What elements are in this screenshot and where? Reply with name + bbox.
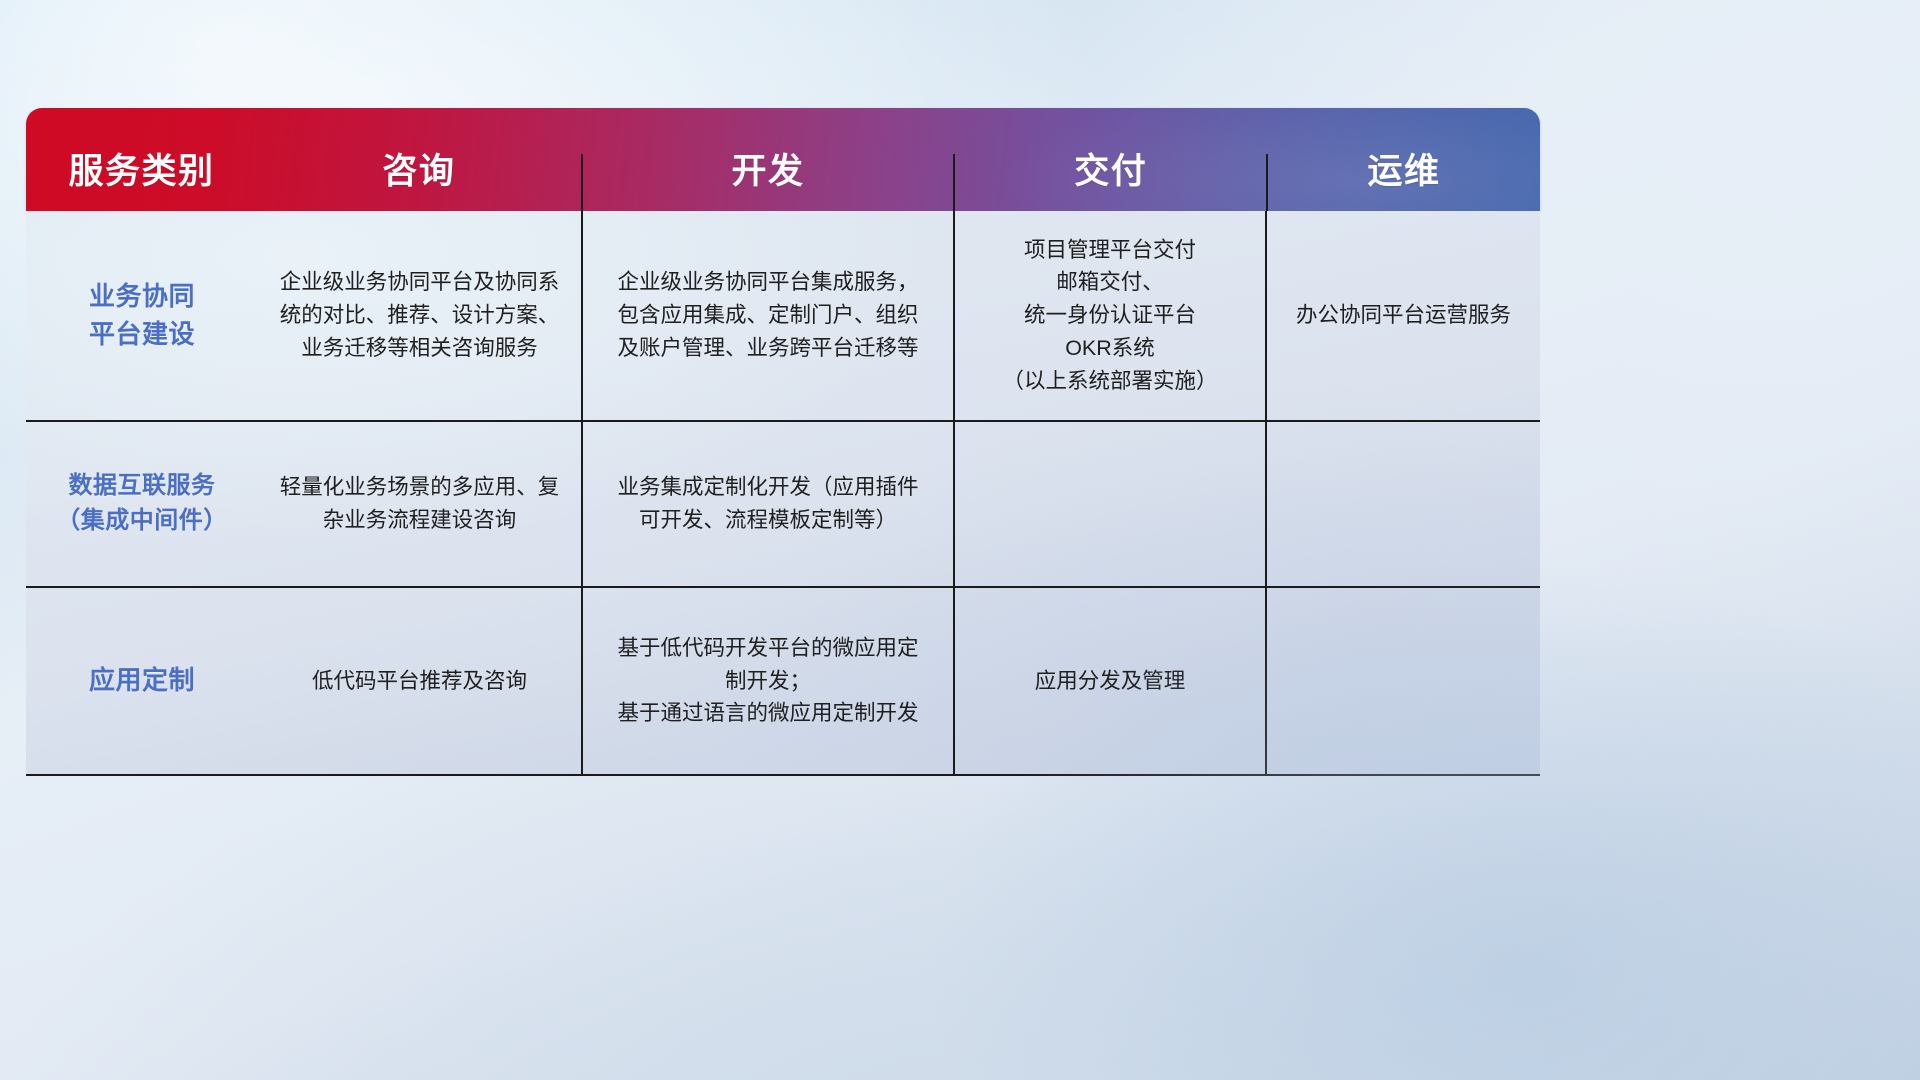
cell-r2-delivery: [955, 422, 1267, 586]
service-category-table: 服务类别 咨询 开发 交付 运维 业务协同 平台建设 企业级业务协同平台及协同系…: [26, 108, 1540, 776]
cell-r1-operations: 办公协同平台运营服务: [1267, 211, 1540, 420]
row-label-data-integration: 数据互联服务 （集成中间件）: [26, 422, 258, 586]
header-cell-consulting: 咨询: [257, 154, 583, 211]
row-label-business-collaboration: 业务协同 平台建设: [26, 211, 258, 420]
header-cell-operations: 运维: [1268, 154, 1540, 211]
cell-r1-development: 企业级业务协同平台集成服务， 包含应用集成、定制门户、组织 及账户管理、业务跨平…: [583, 211, 955, 420]
table-body: 业务协同 平台建设 企业级业务协同平台及协同系 统的对比、推荐、设计方案、 业务…: [26, 211, 1540, 776]
cell-r3-development: 基于低代码开发平台的微应用定 制开发； 基于通过语言的微应用定制开发: [583, 588, 955, 774]
cell-r2-development: 业务集成定制化开发（应用插件 可开发、流程模板定制等）: [583, 422, 955, 586]
cell-r3-consulting: 低代码平台推荐及咨询: [258, 588, 583, 774]
header-cell-development: 开发: [583, 154, 956, 211]
cell-r2-operations: [1267, 422, 1540, 586]
row-label-app-customization: 应用定制: [26, 588, 258, 774]
page-root: 服务类别 咨询 开发 交付 运维 业务协同 平台建设 企业级业务协同平台及协同系…: [0, 0, 1920, 1080]
table-row: 数据互联服务 （集成中间件） 轻量化业务场景的多应用、复 杂业务流程建设咨询 业…: [26, 420, 1540, 586]
table-row: 应用定制 低代码平台推荐及咨询 基于低代码开发平台的微应用定 制开发； 基于通过…: [26, 586, 1540, 774]
cell-r3-operations: [1267, 588, 1540, 774]
cell-r1-consulting: 企业级业务协同平台及协同系 统的对比、推荐、设计方案、 业务迁移等相关咨询服务: [258, 211, 583, 420]
header-cell-category: 服务类别: [26, 154, 257, 211]
table-row: 业务协同 平台建设 企业级业务协同平台及协同系 统的对比、推荐、设计方案、 业务…: [26, 211, 1540, 420]
header-cell-delivery: 交付: [955, 154, 1268, 211]
cell-r2-consulting: 轻量化业务场景的多应用、复 杂业务流程建设咨询: [258, 422, 583, 586]
cell-r3-delivery: 应用分发及管理: [955, 588, 1267, 774]
cell-r1-delivery: 项目管理平台交付 邮箱交付、 统一身份认证平台 OKR系统 （以上系统部署实施）: [955, 211, 1267, 420]
table-header-row: 服务类别 咨询 开发 交付 运维: [26, 108, 1540, 211]
